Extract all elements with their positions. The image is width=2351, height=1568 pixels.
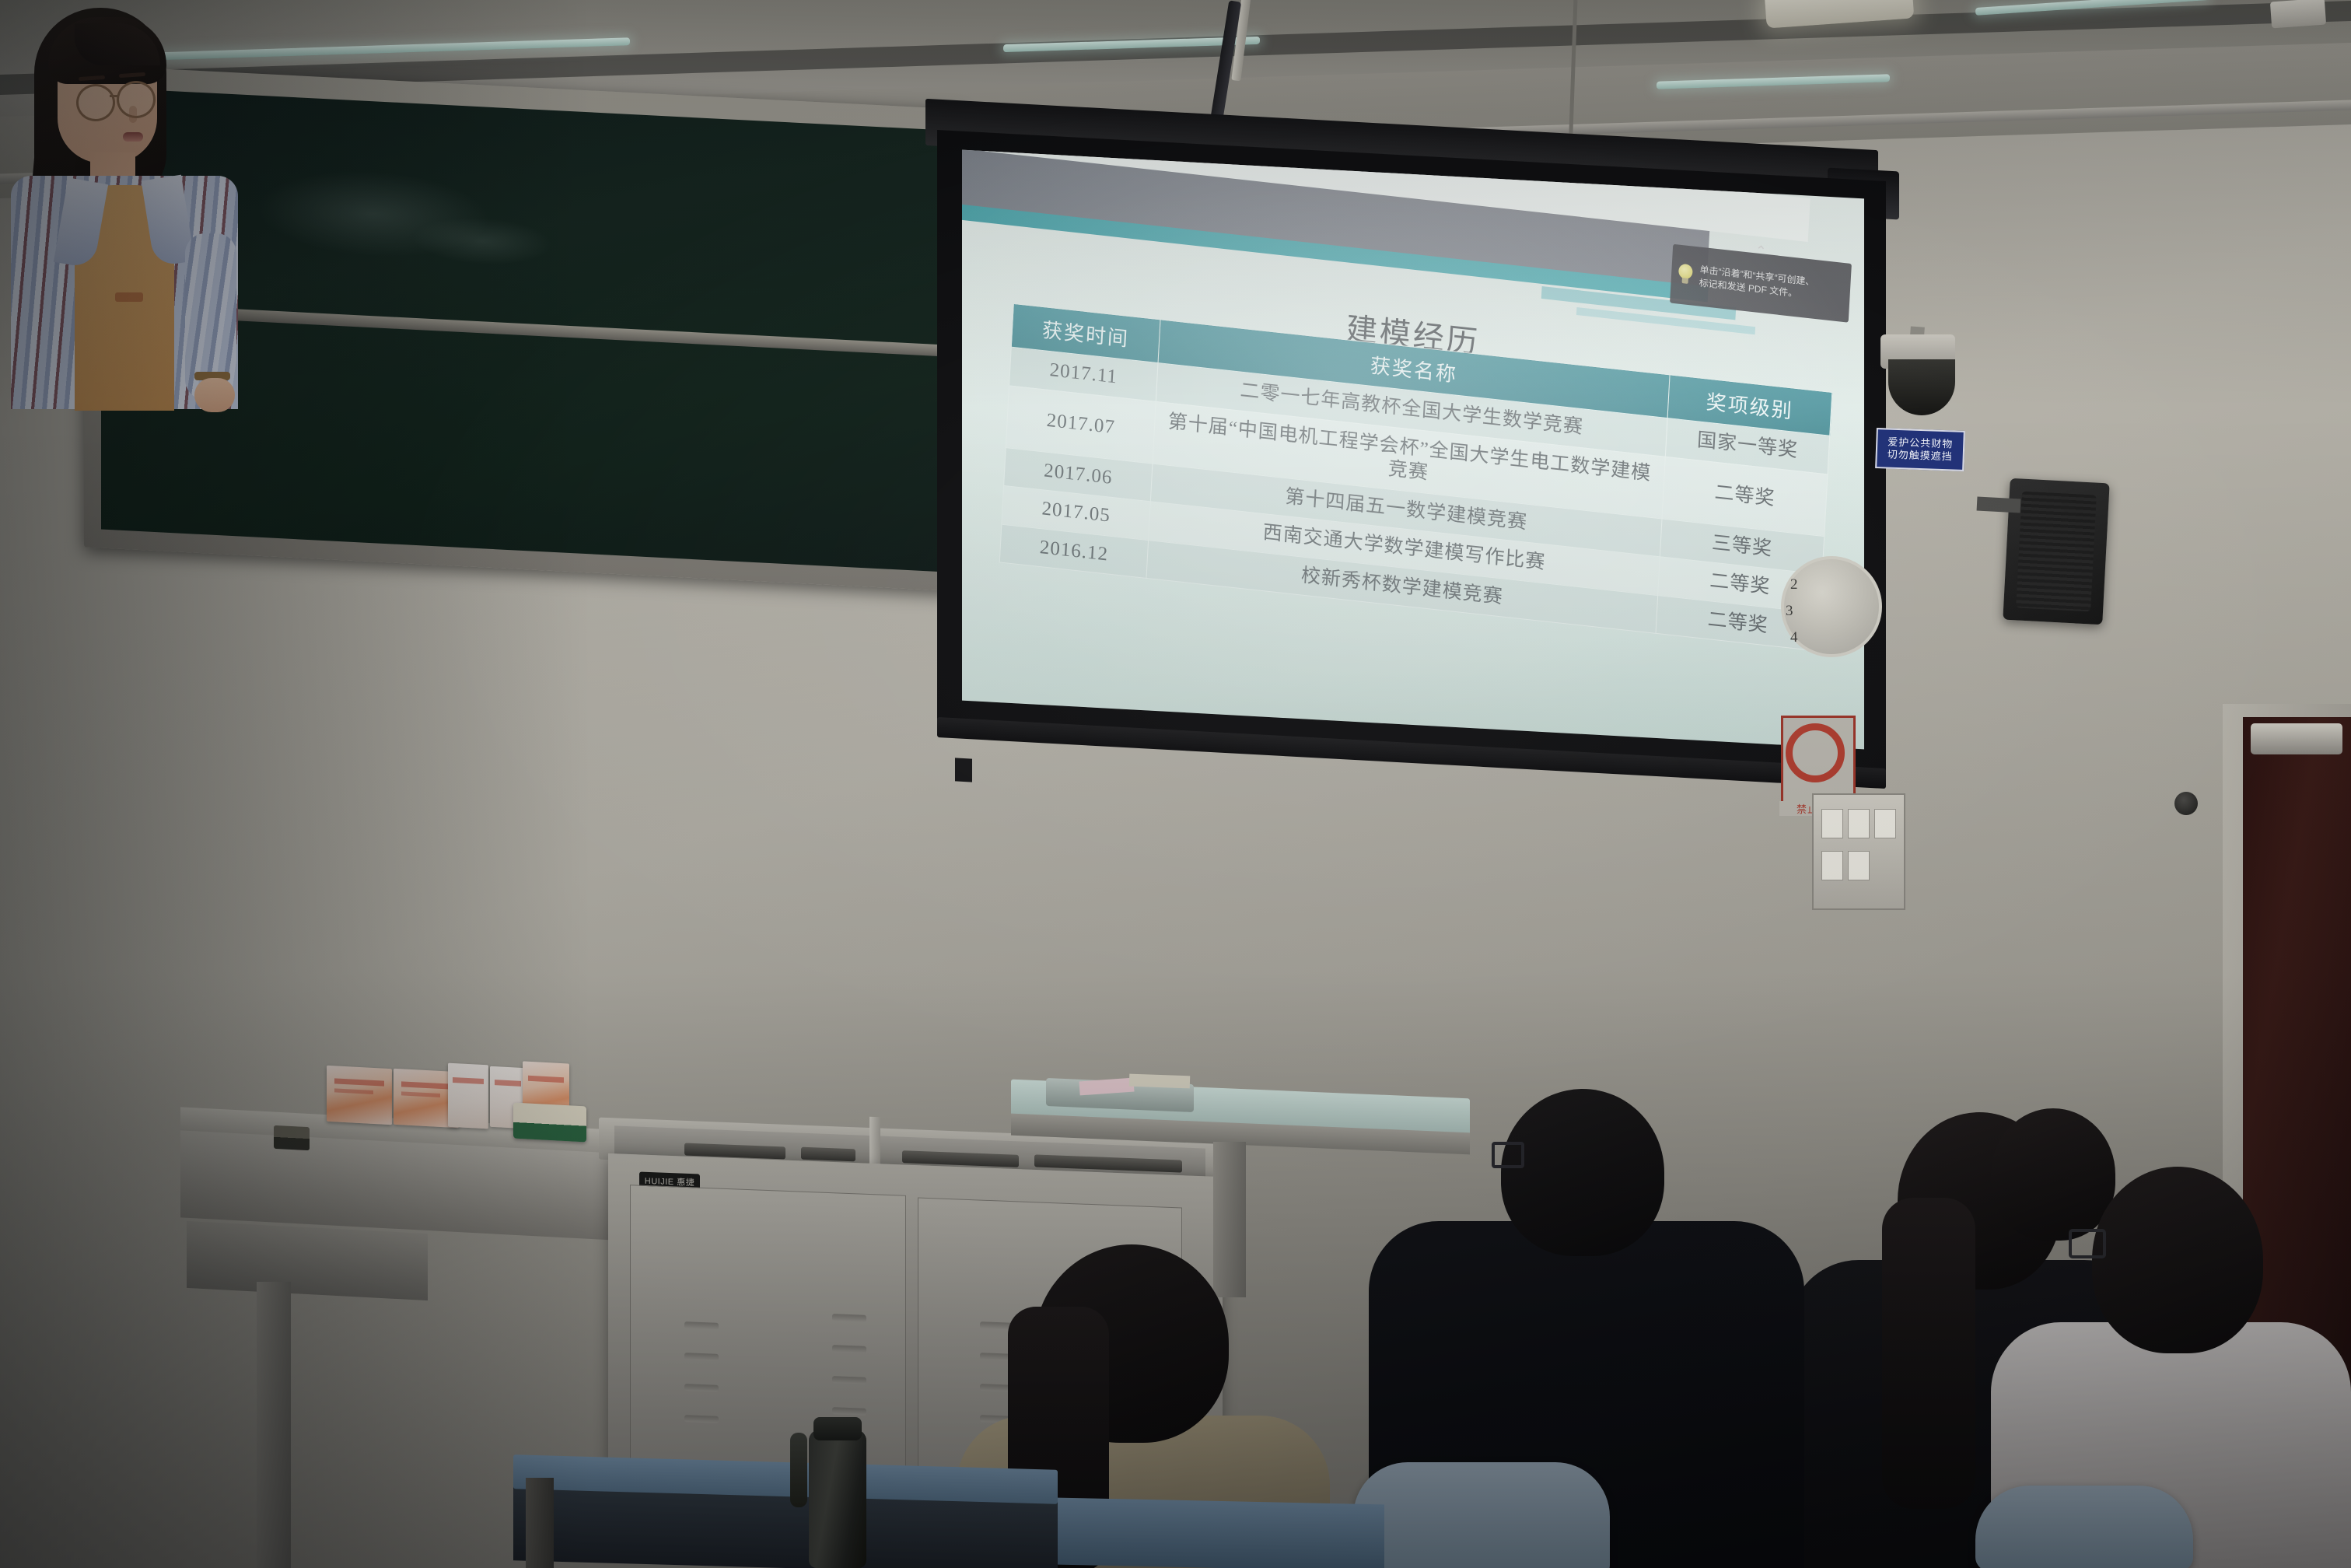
wall-clock: 2 3 4 <box>1781 556 1882 657</box>
lightbulb-icon <box>1677 264 1694 287</box>
breaker-switch[interactable] <box>1848 851 1870 880</box>
cabinet-vent-slat <box>832 1376 866 1384</box>
screen-weight <box>955 758 972 782</box>
chalk-ledge-skirt <box>187 1221 428 1300</box>
presenter-top-logo <box>115 292 143 302</box>
cabinet-vent-slat <box>832 1407 866 1416</box>
glasses-icon <box>1492 1142 1524 1168</box>
cabinet-vent-slat <box>684 1353 719 1361</box>
audience-member-hair <box>1882 1198 1975 1509</box>
presenter-nose <box>129 106 137 123</box>
water-bottle[interactable] <box>809 1430 866 1568</box>
student-desk <box>1058 1498 1384 1568</box>
cabinet-vent-slat <box>684 1321 719 1330</box>
sign-line-2: 切勿触摸遮挡 <box>1887 449 1952 462</box>
cabinet-vent-slat <box>684 1415 719 1423</box>
glasses-icon <box>2069 1229 2106 1258</box>
chalk-box-stripe <box>401 1081 451 1089</box>
electrical-panel[interactable] <box>1812 793 1905 910</box>
chalk-box-stripe <box>334 1088 373 1094</box>
chalk-box <box>448 1063 488 1129</box>
audience-member-head <box>2092 1167 2263 1353</box>
light-switch[interactable] <box>2174 792 2198 815</box>
breaker-switch[interactable] <box>1848 809 1870 838</box>
chalk-tray-item <box>274 1125 310 1150</box>
breaker-switch[interactable] <box>1821 851 1843 880</box>
chalk-box <box>327 1066 392 1125</box>
classroom-chair[interactable] <box>1975 1486 2193 1568</box>
clock-number: 2 <box>1790 576 1798 593</box>
public-property-notice-sign: 爱护公共财物 切勿触摸遮挡 <box>1875 428 1965 471</box>
chalk-ledge-leg <box>257 1282 291 1568</box>
speaker-grille <box>2016 492 2097 612</box>
cabinet-vent-slat <box>832 1314 866 1322</box>
chalk-box-stripe <box>528 1075 564 1082</box>
water-bottle-handle[interactable] <box>790 1433 807 1507</box>
cabinet-vent-slat <box>832 1345 866 1353</box>
clock-number: 3 <box>1786 603 1793 620</box>
glasses-bridge <box>110 95 119 97</box>
student-desk-leg <box>526 1478 554 1568</box>
prohibition-circle-icon <box>1786 723 1845 782</box>
blackboard-eraser <box>513 1103 586 1143</box>
water-bottle-cap[interactable] <box>813 1417 862 1440</box>
projector-screen-surface: ⌃ 单击“沿着”和“共享”可创建、 标记和发送 PDF 文件。 建模经历 获奖时… <box>962 150 1864 750</box>
presenter-mouth <box>123 132 143 142</box>
breaker-switch[interactable] <box>1874 809 1896 838</box>
clock-number: 4 <box>1790 629 1798 646</box>
microphone-stand[interactable] <box>869 1117 880 1169</box>
classroom-chair[interactable] <box>1353 1462 1610 1568</box>
side-table-leg <box>1213 1142 1246 1297</box>
audience-member-head <box>1501 1089 1664 1256</box>
glasses-icon <box>76 84 115 121</box>
breaker-switch[interactable] <box>1821 809 1843 838</box>
pdf-share-tooltip-text: 单击“沿着”和“共享”可创建、 标记和发送 PDF 文件。 <box>1699 263 1815 303</box>
presenter-hand <box>194 378 235 412</box>
emergency-light-icon <box>2270 0 2326 28</box>
speaker-bracket <box>1977 497 2021 513</box>
classroom-scene: ⌃ 单击“沿着”和“共享”可创建、 标记和发送 PDF 文件。 建模经历 获奖时… <box>0 0 2351 1568</box>
door-closer-icon <box>2251 723 2342 754</box>
chalk-box-stripe <box>334 1078 384 1086</box>
chalk-box-stripe <box>453 1077 484 1084</box>
cabinet-vent-slat <box>684 1384 719 1392</box>
chalk-box-stripe <box>401 1091 440 1097</box>
rail-port[interactable] <box>801 1147 855 1162</box>
chalk-box-stripe <box>495 1080 522 1087</box>
audience-member-head <box>1991 1108 2115 1241</box>
paper-sheet <box>1129 1074 1191 1089</box>
